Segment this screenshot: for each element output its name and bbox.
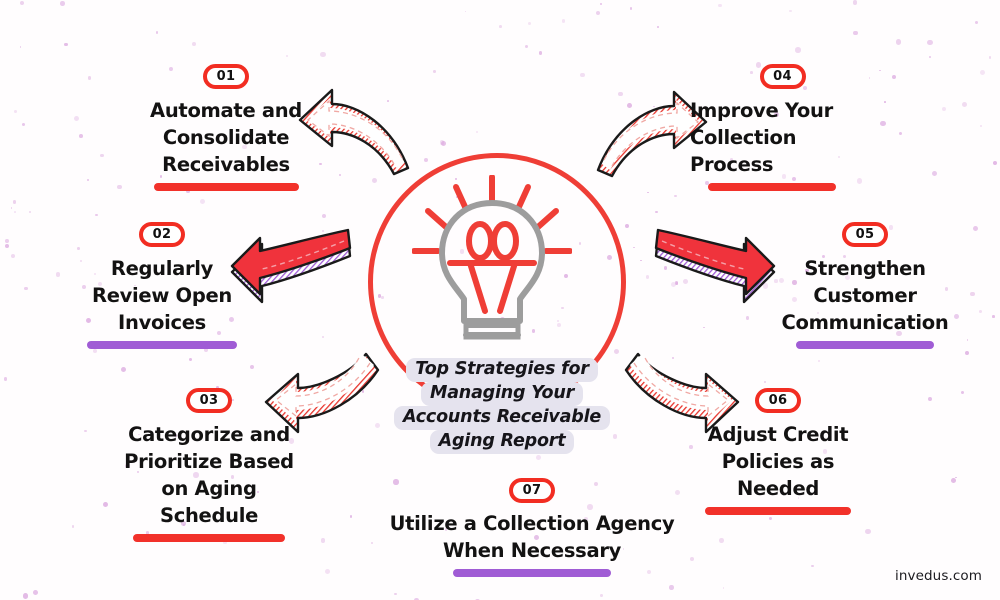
step-number-badge-04: 04: [760, 64, 806, 89]
speckle-dot: [29, 211, 31, 213]
step-underline-05: [796, 341, 934, 349]
speckle-dot: [100, 154, 104, 158]
speckle-dot: [11, 207, 12, 208]
speckle-dot: [965, 351, 969, 355]
speckle-dot: [72, 525, 74, 527]
step-item-03[interactable]: 03 Categorize and Prioritize Based on Ag…: [100, 388, 318, 542]
step-item-01[interactable]: 01 Automate and Consolidate Receivables: [128, 64, 324, 191]
speckle-dot: [723, 587, 725, 589]
speckle-dot: [88, 76, 92, 80]
speckle-dot: [33, 590, 38, 595]
speckle-dot: [932, 171, 937, 176]
speckle-dot: [22, 123, 26, 127]
speckle-dot: [669, 585, 673, 589]
speckle-dot: [674, 195, 677, 198]
speckle-dot: [955, 477, 957, 479]
center-title: Top Strategies for Managing Your Account…: [378, 358, 626, 454]
speckle-dot: [795, 47, 801, 53]
step-item-07[interactable]: 07 Utilize a Collection Agency When Nece…: [367, 478, 697, 577]
speckle-dot: [961, 391, 964, 394]
step-underline-04: [708, 183, 836, 191]
speckle-dot: [928, 397, 932, 401]
speckle-dot: [703, 327, 705, 329]
speckle-dot: [973, 226, 978, 231]
speckle-dot: [74, 116, 79, 121]
speckle-dot: [970, 292, 975, 297]
speckle-dot: [322, 336, 324, 338]
speckle-dot: [789, 10, 792, 13]
speckle-dot: [539, 51, 543, 55]
speckle-dot: [93, 349, 97, 353]
step-item-02[interactable]: 02 Regularly Review Open Invoices: [62, 222, 262, 349]
step-label-07: Utilize a Collection Agency When Necessa…: [390, 510, 675, 564]
speckle-dot: [769, 517, 772, 520]
speckle-dot: [536, 455, 541, 460]
speckle-dot: [811, 565, 813, 567]
speckle-dot: [818, 360, 820, 362]
speckle-dot: [14, 110, 17, 113]
speckle-dot: [853, 31, 857, 35]
speckle-dot: [880, 121, 885, 126]
speckle-dot: [64, 43, 67, 46]
step-underline-06: [705, 507, 851, 515]
speckle-dot: [600, 3, 602, 5]
speckle-dot: [562, 19, 566, 23]
speckle-dot: [60, 1, 65, 6]
speckle-dot: [657, 26, 659, 28]
speckle-dot: [200, 199, 205, 204]
speckle-dot: [892, 75, 896, 79]
speckle-dot: [899, 132, 902, 135]
speckle-dot: [600, 594, 603, 597]
step-number-badge-03: 03: [186, 388, 232, 413]
center-title-line-4: Aging Report: [430, 430, 575, 454]
speckle-dot: [746, 316, 750, 320]
speckle-dot: [87, 179, 89, 181]
speckle-dot: [979, 310, 982, 313]
speckle-dot: [989, 56, 991, 58]
step-label-05: Strengthen Customer Communication: [782, 255, 949, 336]
speckle-dot: [440, 140, 444, 144]
speckle-dot: [853, 0, 857, 4]
speckle-dot: [14, 211, 16, 213]
speckle-dot: [980, 125, 982, 127]
speckle-dot: [655, 211, 657, 213]
speckle-dot: [20, 1, 24, 5]
speckle-dot: [24, 287, 28, 291]
step-label-01: Automate and Consolidate Receivables: [150, 97, 302, 178]
center-title-line-1: Top Strategies for: [406, 358, 598, 382]
speckle-dot: [4, 377, 8, 381]
speckle-dot: [951, 478, 956, 483]
arrow-to-step-05-icon: [652, 228, 778, 308]
speckle-dot: [20, 46, 22, 48]
speckle-dot: [321, 538, 325, 542]
speckle-dot: [942, 107, 946, 111]
speckle-dot: [465, 11, 467, 13]
speckle-dot: [993, 161, 997, 165]
step-underline-02: [87, 341, 237, 349]
speckle-dot: [879, 70, 880, 71]
step-underline-03: [133, 534, 285, 542]
speckle-dot: [476, 131, 478, 133]
speckle-dot: [865, 529, 870, 534]
speckle-dot: [156, 31, 159, 34]
speckle-dot: [967, 339, 969, 341]
step-underline-07: [453, 569, 611, 577]
speckle-dot: [286, 55, 288, 57]
step-underline-01: [154, 183, 299, 191]
step-item-05[interactable]: 05 Strengthen Customer Communication: [775, 222, 955, 349]
speckle-dot: [5, 244, 9, 248]
speckle-dot: [56, 272, 60, 276]
speckle-dot: [322, 214, 326, 218]
speckle-dot: [525, 45, 528, 48]
speckle-dot: [350, 515, 352, 517]
speckle-dot: [117, 185, 121, 189]
step-item-04[interactable]: 04 Improve Your Collection Process: [690, 64, 875, 191]
speckle-dot: [929, 56, 931, 58]
speckle-dot: [394, 593, 397, 596]
speckle-dot: [23, 593, 28, 598]
speckle-dot: [646, 275, 649, 278]
speckle-dot: [580, 73, 584, 77]
speckle-dot: [992, 315, 995, 318]
speckle-dot: [84, 430, 86, 432]
speckle-dot: [433, 70, 436, 73]
speckle-dot: [121, 367, 126, 372]
infographic-canvas: Top Strategies for Managing Your Account…: [0, 0, 1000, 600]
speckle-dot: [630, 7, 632, 9]
center-title-line-2: Managing Your: [421, 382, 583, 406]
speckle-dot: [192, 42, 196, 46]
speckle-dot: [980, 70, 985, 75]
speckle-dot: [719, 538, 724, 543]
step-label-03: Categorize and Prioritize Based on Aging…: [124, 421, 294, 529]
speckle-dot: [250, 365, 254, 369]
speckle-dot: [640, 260, 642, 262]
speckle-dot: [718, 4, 722, 8]
speckle-dot: [11, 254, 15, 258]
speckle-dot: [189, 358, 192, 361]
speckle-dot: [325, 569, 330, 574]
speckle-dot: [764, 381, 767, 384]
speckle-dot: [927, 40, 932, 45]
step-label-04: Improve Your Collection Process: [690, 97, 833, 178]
speckle-dot: [320, 52, 326, 58]
lightbulb-icon: [412, 175, 572, 365]
speckle-dot: [975, 21, 978, 24]
speckle-dot: [79, 134, 83, 138]
speckle-dot: [13, 200, 16, 203]
speckle-dot: [95, 214, 97, 216]
step-label-02: Regularly Review Open Invoices: [92, 255, 232, 336]
step-number-badge-06: 06: [755, 388, 801, 413]
step-number-badge-02: 02: [139, 222, 185, 247]
speckle-dot: [962, 102, 968, 108]
center-title-line-3: Accounts Receivable: [394, 406, 610, 430]
speckle-dot: [499, 25, 502, 28]
step-number-badge-05: 05: [842, 222, 888, 247]
site-watermark: invedus.com: [895, 568, 982, 584]
step-item-06[interactable]: 06 Adjust Credit Policies as Needed: [688, 388, 868, 515]
speckle-dot: [5, 239, 9, 243]
speckle-dot: [596, 11, 600, 15]
speckle-dot: [884, 101, 886, 103]
step-number-badge-01: 01: [203, 64, 249, 89]
step-number-badge-07: 07: [509, 478, 555, 503]
step-label-06: Adjust Credit Policies as Needed: [708, 421, 849, 502]
speckle-dot: [528, 22, 531, 25]
speckle-dot: [896, 39, 901, 44]
speckle-dot: [647, 192, 649, 194]
